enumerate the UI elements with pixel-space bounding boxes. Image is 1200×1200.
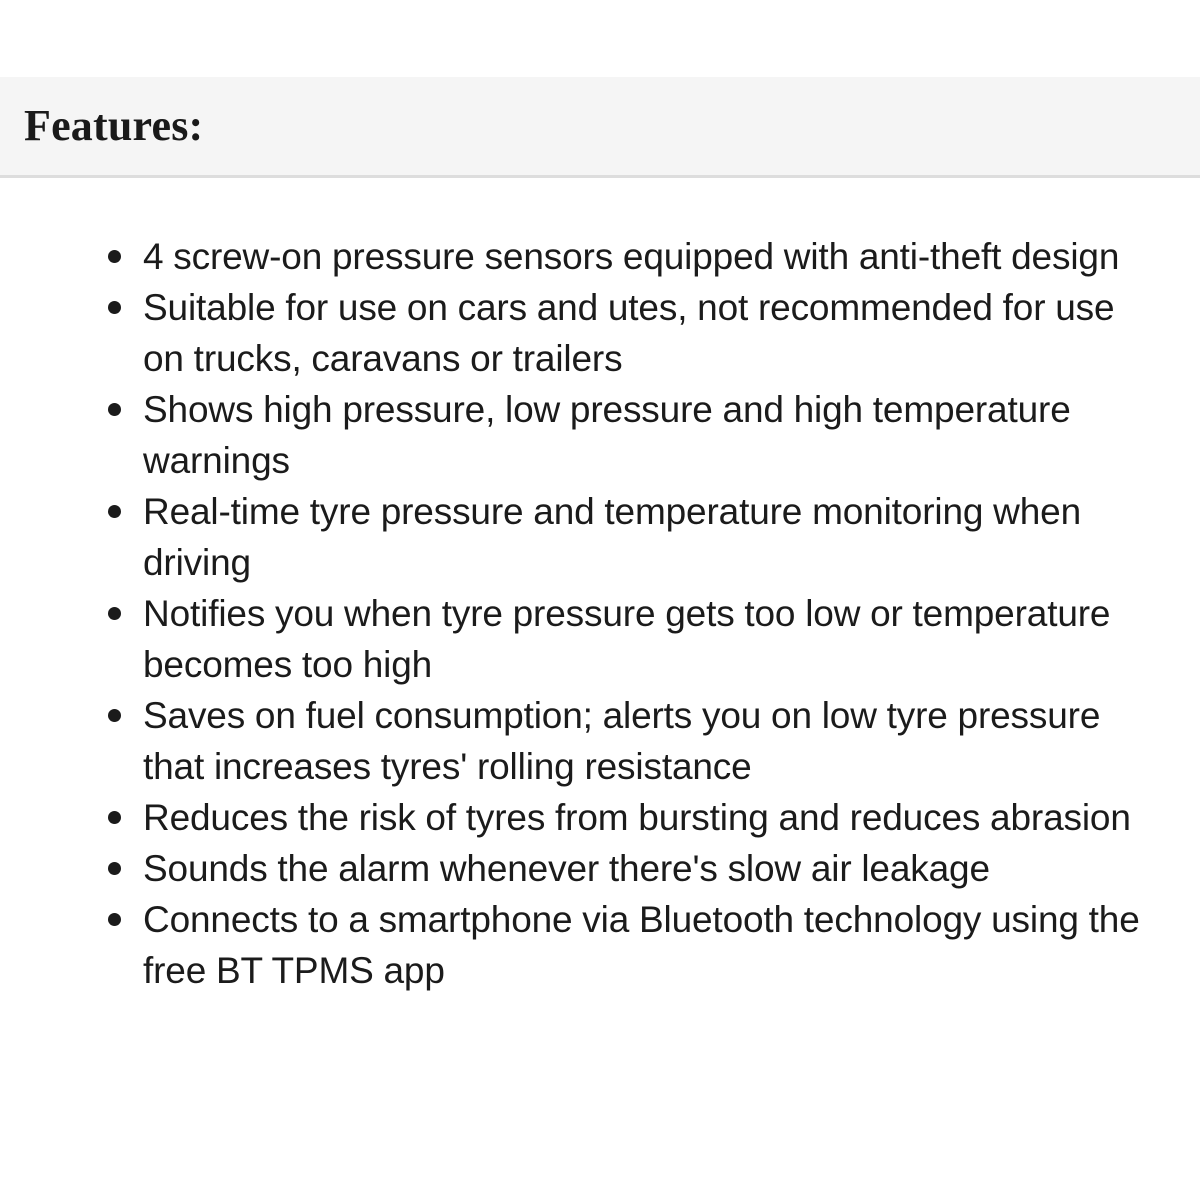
list-item-label: Connects to a smartphone via Bluetooth t… (143, 894, 1164, 996)
page-title: Features: (24, 104, 203, 148)
list-item-label: Suitable for use on cars and utes, not r… (143, 282, 1164, 384)
list-item: Shows high pressure, low pressure and hi… (0, 384, 1200, 486)
bullet-dot-icon (108, 301, 121, 314)
bullet-dot-icon (108, 709, 121, 722)
list-item-label: Real-time tyre pressure and temperature … (143, 486, 1164, 588)
list-item-label: Sounds the alarm whenever there's slow a… (143, 843, 1164, 894)
product-features-page: Features: 4 screw-on pressure sensors eq… (0, 0, 1200, 1200)
list-item-label: Saves on fuel consumption; alerts you on… (143, 690, 1164, 792)
list-item: Notifies you when tyre pressure gets too… (0, 588, 1200, 690)
bullet-dot-icon (108, 250, 121, 263)
list-item: Suitable for use on cars and utes, not r… (0, 282, 1200, 384)
list-item: Reduces the risk of tyres from bursting … (0, 792, 1200, 843)
list-item-label: Reduces the risk of tyres from bursting … (143, 792, 1164, 843)
list-item: 4 screw-on pressure sensors equipped wit… (0, 231, 1200, 282)
list-item: Saves on fuel consumption; alerts you on… (0, 690, 1200, 792)
bullet-dot-icon (108, 505, 121, 518)
bullet-dot-icon (108, 811, 121, 824)
list-item-label: Notifies you when tyre pressure gets too… (143, 588, 1164, 690)
features-section-header: Features: (0, 77, 1200, 178)
list-item: Real-time tyre pressure and temperature … (0, 486, 1200, 588)
bullet-dot-icon (108, 403, 121, 416)
list-item-label: 4 screw-on pressure sensors equipped wit… (143, 231, 1164, 282)
bullet-dot-icon (108, 913, 121, 926)
features-body: 4 screw-on pressure sensors equipped wit… (0, 181, 1200, 996)
bullet-dot-icon (108, 862, 121, 875)
list-item: Connects to a smartphone via Bluetooth t… (0, 894, 1200, 996)
feature-list: 4 screw-on pressure sensors equipped wit… (0, 181, 1200, 996)
bullet-dot-icon (108, 607, 121, 620)
list-item-label: Shows high pressure, low pressure and hi… (143, 384, 1164, 486)
list-item: Sounds the alarm whenever there's slow a… (0, 843, 1200, 894)
